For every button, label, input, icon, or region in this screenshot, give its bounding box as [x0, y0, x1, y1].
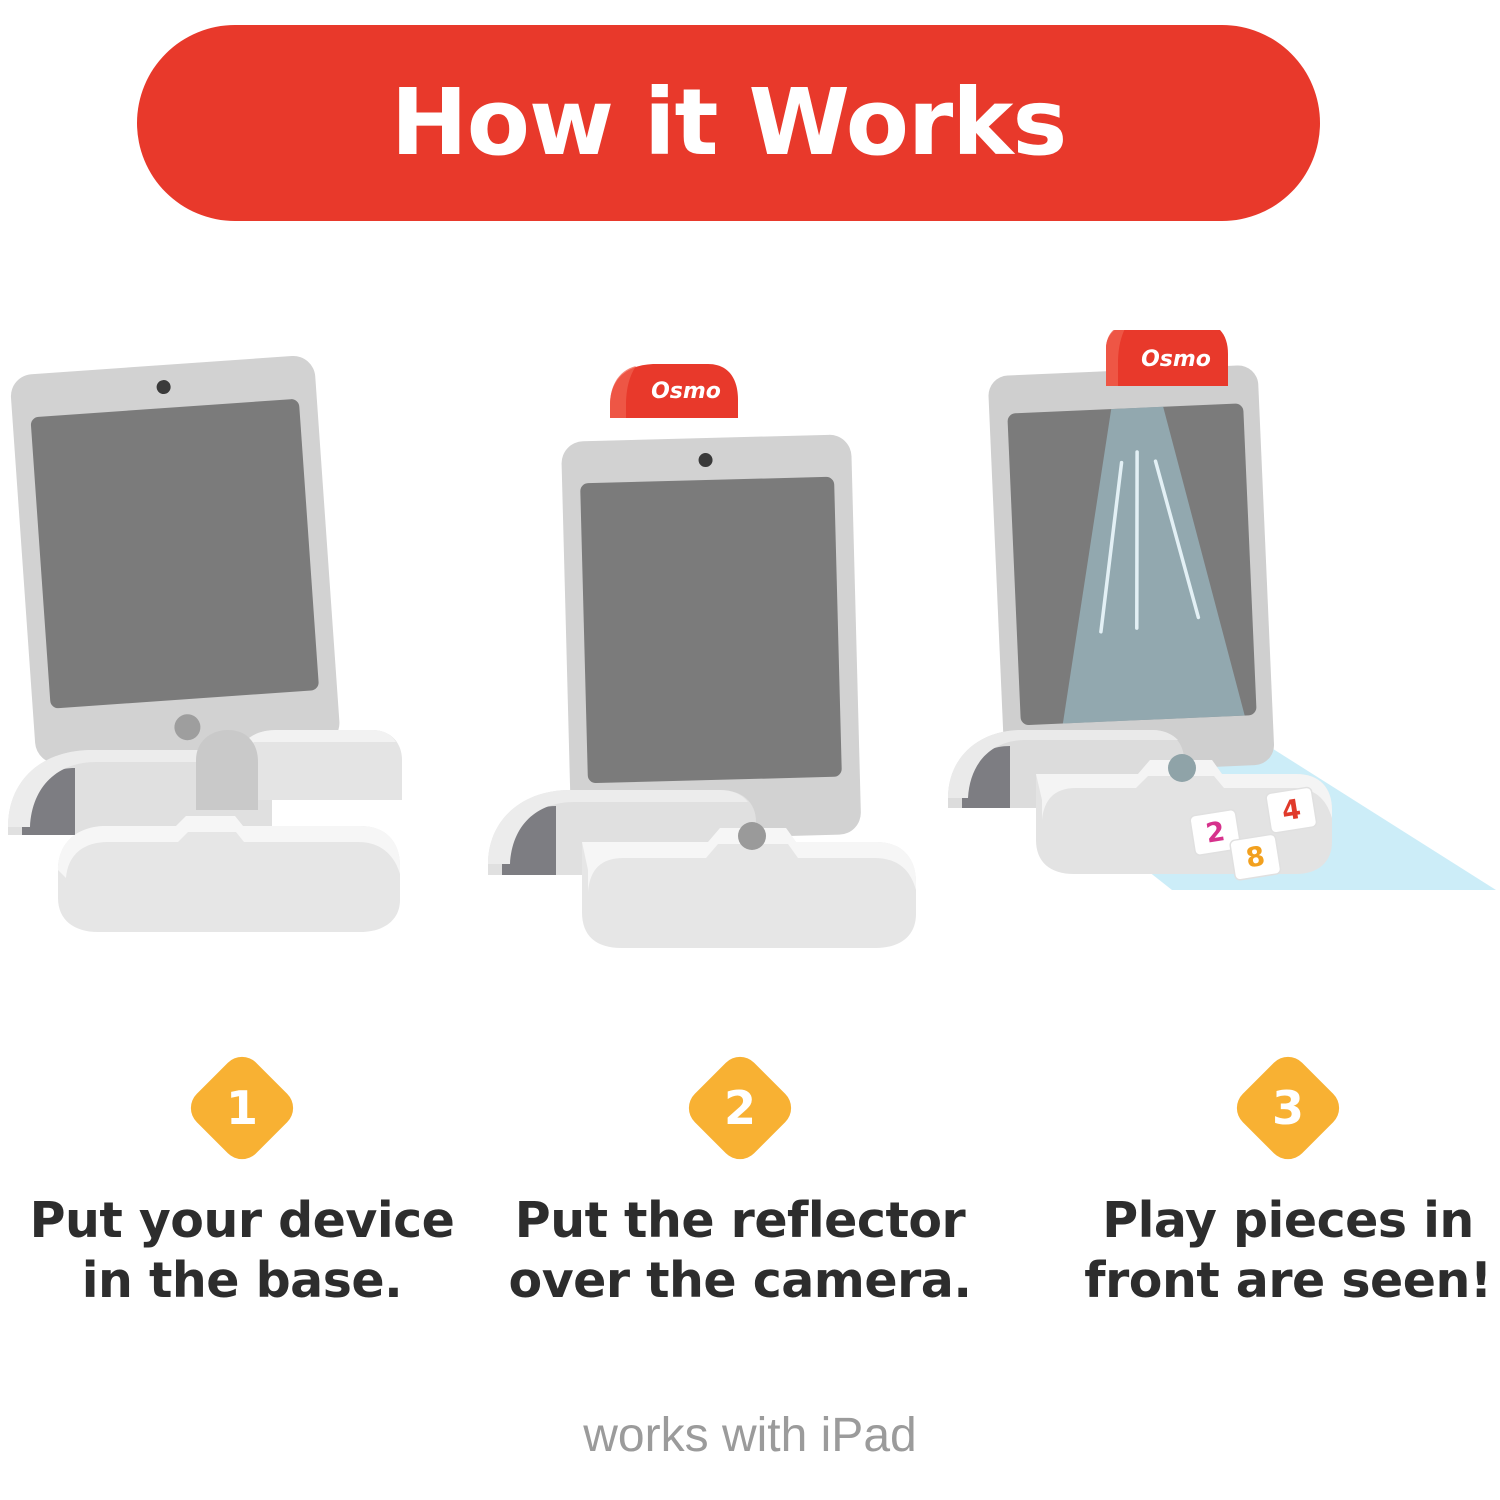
- tablet-projection-graphic: Osmo 2 4: [940, 330, 1500, 950]
- captions-row: 1 Put your device in the base. 2 Put the…: [0, 1040, 1500, 1330]
- osmo-reflector: Osmo: [610, 364, 738, 418]
- tablet-above-base-graphic: [0, 330, 500, 950]
- home-button-icon: [738, 822, 766, 850]
- step-1-badge-wrap: 1: [0, 1040, 492, 1175]
- step-3-badge-wrap: 3: [1038, 1040, 1500, 1175]
- osmo-base: [8, 730, 402, 932]
- step-number-badge: 2: [681, 1048, 800, 1167]
- reflector-brand-label: Osmo: [651, 379, 721, 404]
- step-number-badge: 3: [1229, 1048, 1348, 1167]
- step-number-badge: 1: [183, 1048, 302, 1167]
- step-caption: Put your device in the base.: [0, 1191, 492, 1311]
- step-caption: Play pieces in front are seen!: [1038, 1191, 1500, 1311]
- tablet-device: [988, 365, 1275, 776]
- step-2: 2 Put the reflector over the camera.: [490, 1040, 990, 1311]
- illustration-step-2: Osmo: [470, 330, 970, 950]
- step-1: 1 Put your device in the base.: [0, 1040, 492, 1311]
- step-number-label: 2: [724, 1084, 756, 1130]
- play-piece-4: 4: [1265, 787, 1317, 834]
- illustrations-row: Osmo: [0, 330, 1500, 950]
- play-piece-8: 8: [1229, 834, 1281, 881]
- compatibility-note: works with iPad: [0, 1408, 1500, 1463]
- illustration-step-3: Osmo 2 4: [940, 330, 1440, 950]
- step-2-badge-wrap: 2: [490, 1040, 990, 1175]
- home-button-icon: [1168, 754, 1196, 782]
- tablet-device: [561, 434, 861, 841]
- step-number-label: 1: [226, 1084, 258, 1130]
- step-3: 3 Play pieces in front are seen!: [1038, 1040, 1500, 1311]
- step-number-label: 3: [1272, 1084, 1304, 1130]
- reflector-brand-label: Osmo: [1141, 347, 1211, 372]
- osmo-reflector: Osmo: [1106, 330, 1228, 386]
- page-title: How it Works: [391, 77, 1066, 169]
- tablet-in-base-graphic: Osmo: [470, 330, 970, 950]
- illustration-step-1: [0, 330, 500, 950]
- tablet-device: [9, 354, 340, 764]
- header-banner: How it Works: [137, 25, 1320, 221]
- step-caption: Put the reflector over the camera.: [490, 1191, 990, 1311]
